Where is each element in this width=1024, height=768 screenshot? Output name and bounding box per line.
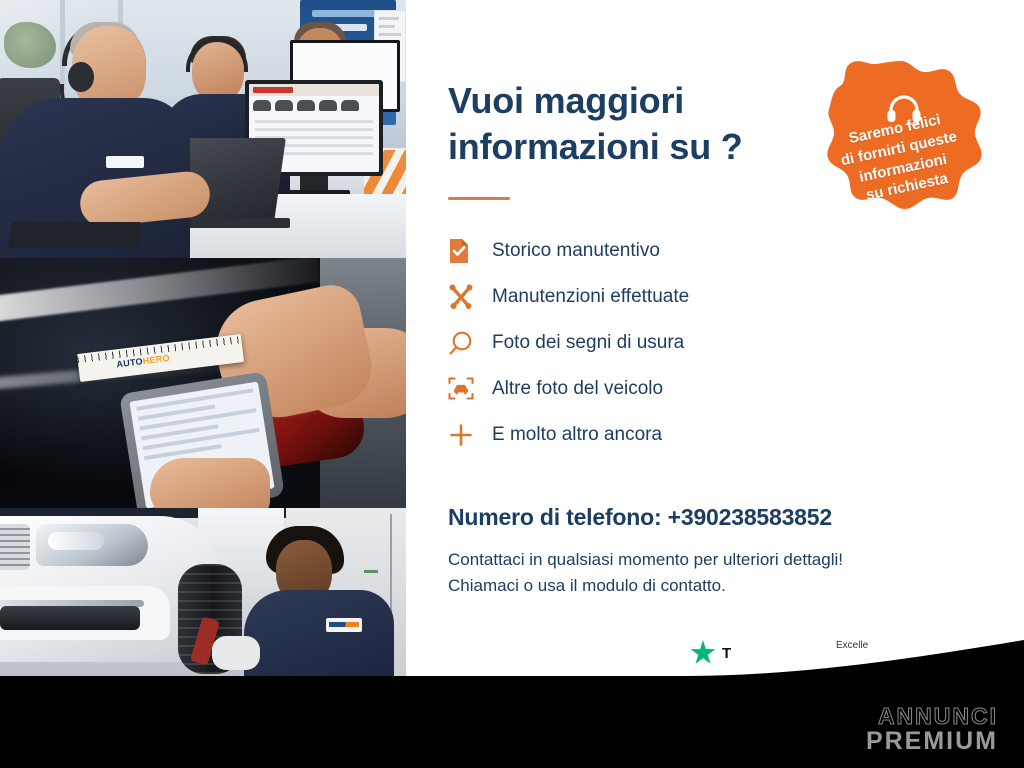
contact-subtext-line-2: Chiamaci o usa il modulo di contatto. xyxy=(448,573,978,599)
tools-icon xyxy=(448,284,492,310)
magnifier-icon xyxy=(448,330,492,356)
feature-list: Storico manutentivo Manutenzioni effettu… xyxy=(448,228,868,458)
feature-label: Foto dei segni di usura xyxy=(492,332,684,354)
title-underline-divider xyxy=(448,197,510,200)
feature-label: Altre foto del veicolo xyxy=(492,378,663,400)
callout-badge: Saremo felici di fornirti queste informa… xyxy=(806,55,996,255)
promo-card: AUTOHERO xyxy=(0,0,1024,768)
headline-line-1: Vuoi maggiori xyxy=(448,78,808,124)
watermark-line-2: PREMIUM xyxy=(866,729,998,754)
feature-label: E molto altro ancora xyxy=(492,424,662,446)
feature-item-manutenzioni-effettuate: Manutenzioni effettuate xyxy=(448,274,868,320)
car-frame-icon xyxy=(448,376,492,402)
feature-label: Storico manutentivo xyxy=(492,240,660,262)
feature-item-altre-foto-veicolo: Altre foto del veicolo xyxy=(448,366,868,412)
feature-item-foto-segni-usura: Foto dei segni di usura xyxy=(448,320,868,366)
phone-number[interactable]: +390238583852 xyxy=(668,504,832,530)
watermark-logo: ANNUNCI PREMIUM xyxy=(866,705,998,754)
document-check-icon xyxy=(448,238,492,264)
page-title: Vuoi maggiori informazioni su ? xyxy=(448,78,808,170)
car-inspection-photo: AUTOHERO xyxy=(0,258,406,508)
feature-item-storico-manutentivo: Storico manutentivo xyxy=(448,228,868,274)
phone-label: Numero di telefono: xyxy=(448,504,661,530)
contact-subtext: Contattaci in qualsiasi momento per ulte… xyxy=(448,547,978,600)
plus-icon xyxy=(448,422,492,448)
phone-number-line: Numero di telefono: +390238583852 xyxy=(448,504,832,531)
watermark-line-1: ANNUNCI xyxy=(866,705,998,728)
feature-item-molto-altro: E molto altro ancora xyxy=(448,412,868,458)
headline-line-2: informazioni su ? xyxy=(448,124,808,170)
call-center-photo xyxy=(0,0,406,258)
feature-label: Manutenzioni effettuate xyxy=(492,286,689,308)
contact-subtext-line-1: Contattaci in qualsiasi momento per ulte… xyxy=(448,547,978,573)
